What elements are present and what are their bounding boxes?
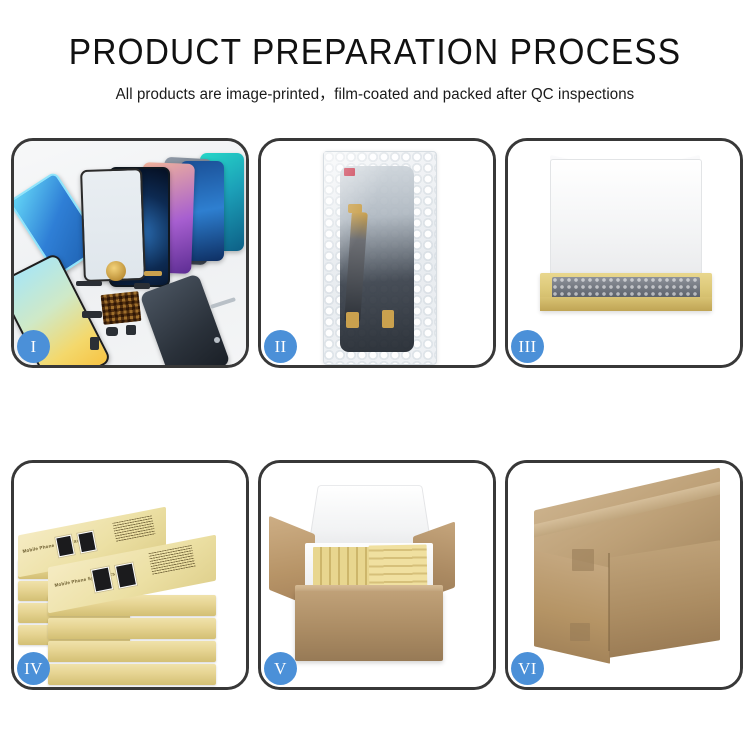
box-slab-r4 [48,664,216,685]
carton-body [295,591,443,661]
step-panel-6[interactable]: VI [505,460,743,690]
step-badge-6: VI [511,652,544,685]
step-panel-5[interactable]: V [258,460,496,690]
page-subtitle: All products are image-printed，film-coat… [11,73,739,104]
bag-highlight [324,152,436,364]
foam-sheet [550,159,702,281]
box-slab-r3 [48,641,216,662]
speaker-part [106,261,126,281]
bubble-wrap-bag [323,151,437,365]
screw-organizer-part [101,291,142,325]
yellow-boxes-row-b [369,544,428,589]
step-image-5 [261,463,493,687]
step-badge-3: III [511,330,544,363]
carton-flap-mark-top [572,549,594,571]
step-panel-1[interactable]: I [11,138,249,368]
box-window-back-1 [54,533,76,558]
step-badge-5: V [264,652,297,685]
step-badge-2: II [264,330,297,363]
step-image-1 [14,141,246,365]
step-image-2 [261,141,493,365]
tray-front-wall [540,297,712,311]
flex-part-a [76,281,102,286]
carton-vertical-seam [608,553,610,651]
flex-part-c [134,283,150,289]
tool-part [210,297,236,309]
kraft-tray [540,273,712,311]
carton-right-face [609,540,720,658]
battery-part [126,325,136,335]
steps-grid: I II [11,138,739,690]
flex-part-d [82,311,102,318]
step-panel-4[interactable]: Mobile Phone Spare Parts Mobile Phone Sp… [11,460,249,690]
header: PRODUCT PREPARATION PROCESS All products… [0,0,750,104]
carton-flap-mark-bottom [570,623,590,641]
box-stack: Mobile Phone Spare Parts Mobile Phone Sp… [18,485,246,675]
flex-part-b [144,271,162,276]
sim-tray-part [90,337,99,350]
bubble-wrapped-contents [552,277,700,299]
step-panel-2[interactable]: II [258,138,496,368]
page-title: PRODUCT PREPARATION PROCESS [26,0,724,73]
step-badge-1: I [17,330,50,363]
phone-back-housing [139,273,230,365]
step-image-6 [508,463,740,687]
step-badge-4: IV [17,652,50,685]
step-image-4: Mobile Phone Spare Parts Mobile Phone Sp… [14,463,246,687]
box-slab-r2 [48,618,216,639]
box-window-back-2 [76,529,98,554]
step-image-3 [508,141,740,365]
camera-part [106,327,118,336]
step-panel-3[interactable]: III [505,138,743,368]
product-preparation-infographic: PRODUCT PREPARATION PROCESS All products… [0,0,750,750]
screw-part [214,337,220,343]
